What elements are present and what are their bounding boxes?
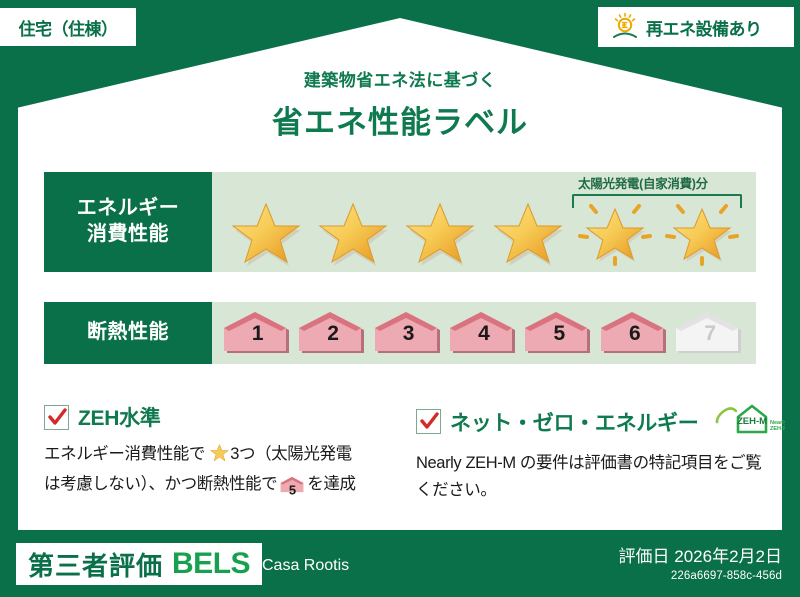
star-icon <box>228 196 304 268</box>
insulation-level-area: 1 2 3 <box>212 302 756 364</box>
footer-meta: 評価日 2026年2月2日 226a6697-858c-456d <box>619 542 782 582</box>
insulation-level-house: 2 <box>296 308 370 358</box>
insulation-level-house: 4 <box>447 308 521 358</box>
page-title: 省エネ性能ラベル <box>0 97 800 142</box>
inline-house-number: 5 <box>279 479 305 500</box>
insulation-level-number: 2 <box>296 322 370 346</box>
energy-star-area: 太陽光発電(自家消費)分 <box>212 172 756 272</box>
insulation-level-house: 6 <box>598 308 672 358</box>
criteria-left-header: ZEH水準 <box>44 402 394 432</box>
bels-certification-box: 第三者評価 BELS <box>16 543 262 585</box>
insulation-label-text: 断熱性能 <box>87 320 169 346</box>
insulation-level-house: 5 <box>522 308 596 358</box>
bels-logo-text: BELS <box>172 547 250 581</box>
building-type-text: 住宅（住棟） <box>19 15 118 40</box>
criteria-right-description: Nearly ZEH-M の要件は評価書の特記項目をご覧ください。 <box>416 450 766 503</box>
energy-label-line1: エネルギー <box>77 196 180 222</box>
insulation-level-number: 1 <box>221 322 295 346</box>
star-icon-inline <box>206 448 229 466</box>
insulation-level-house-inline: 5 <box>279 475 305 503</box>
star-rating <box>212 196 756 268</box>
insulation-level-house: 1 <box>221 308 295 358</box>
insulation-performance-row: 断熱性能 1 2 <box>44 302 756 364</box>
energy-label-line2: 消費性能 <box>87 222 169 248</box>
criteria-zeh-standard: ZEH水準 エネルギー消費性能で 3つ（太陽光発電 は考慮しない）、かつ断熱性能… <box>44 402 394 502</box>
criteria-net-zero-energy: ネット・ゼロ・エネルギー ZEH-M Nearly ZEH-M Nearly Z… <box>416 402 766 503</box>
star-icon <box>402 196 478 268</box>
label-title-block: 建築物省エネ法に基づく 省エネ性能ラベル <box>0 66 800 142</box>
checkmark-icon <box>416 409 441 434</box>
bels-jp-label: 第三者評価 <box>28 546 163 583</box>
svg-text:ZEH-M: ZEH-M <box>770 426 785 432</box>
building-name: Casa Rootis <box>262 557 349 575</box>
criteria-left-title: ZEH水準 <box>78 402 161 432</box>
label-footer: 第三者評価 BELS Casa Rootis 評価日 2026年2月2日 226… <box>0 533 800 597</box>
criteria-left-desc-3: を達成 <box>307 475 355 493</box>
svg-text:ZEH-M: ZEH-M <box>737 416 767 427</box>
insulation-level-scale: 1 2 3 <box>212 302 756 364</box>
solar-bracket-caption: 太陽光発電(自家消費)分 <box>548 173 738 192</box>
energy-performance-label: エネルギー 消費性能 <box>44 172 212 272</box>
criteria-left-desc-1: エネルギー消費性能で <box>44 445 205 463</box>
insulation-level-number: 6 <box>598 322 672 346</box>
evaluation-date: 評価日 2026年2月2日 <box>619 542 782 567</box>
checkmark-icon <box>44 405 69 430</box>
insulation-level-number: 4 <box>447 322 521 346</box>
insulation-performance-label: 断熱性能 <box>44 302 212 364</box>
renewable-badge-label: 再エネ設備あり <box>646 15 762 40</box>
insulation-level-number: 7 <box>673 322 747 346</box>
criteria-right-title: ネット・ゼロ・エネルギー <box>450 407 698 437</box>
insulation-level-house-inactive: 7 <box>673 308 747 358</box>
insulation-level-house: 3 <box>372 308 446 358</box>
insulation-level-number: 5 <box>522 322 596 346</box>
energy-performance-row: エネルギー 消費性能 太陽光発電(自家消費)分 <box>44 172 756 272</box>
star-icon-solar <box>577 196 653 268</box>
energy-performance-label: 住宅（住棟） 再エネ設備あり 建築物省エネ法に基づく 省エネ性能ラベル <box>0 0 800 597</box>
star-icon-solar <box>664 196 740 268</box>
zeh-m-logo-icon: ZEH-M Nearly ZEH-M <box>711 402 785 441</box>
criteria-right-header: ネット・ゼロ・エネルギー ZEH-M Nearly ZEH-M <box>416 402 766 441</box>
criteria-left-desc-stars: 3つ（太陽光発電 <box>230 445 351 463</box>
solar-sun-icon <box>610 12 640 42</box>
criteria-left-description: エネルギー消費性能で 3つ（太陽光発電 は考慮しない）、かつ断熱性能で 5を達成 <box>44 441 394 502</box>
evaluation-id: 226a6697-858c-456d <box>619 570 782 582</box>
criteria-left-desc-2: は考慮しない）、かつ断熱性能で <box>44 475 277 493</box>
insulation-level-number: 3 <box>372 322 446 346</box>
star-icon <box>315 196 391 268</box>
title-subtitle: 建築物省エネ法に基づく <box>0 66 800 91</box>
building-type-badge: 住宅（住棟） <box>0 8 136 46</box>
star-icon <box>490 196 566 268</box>
renewable-energy-badge: 再エネ設備あり <box>598 7 794 47</box>
